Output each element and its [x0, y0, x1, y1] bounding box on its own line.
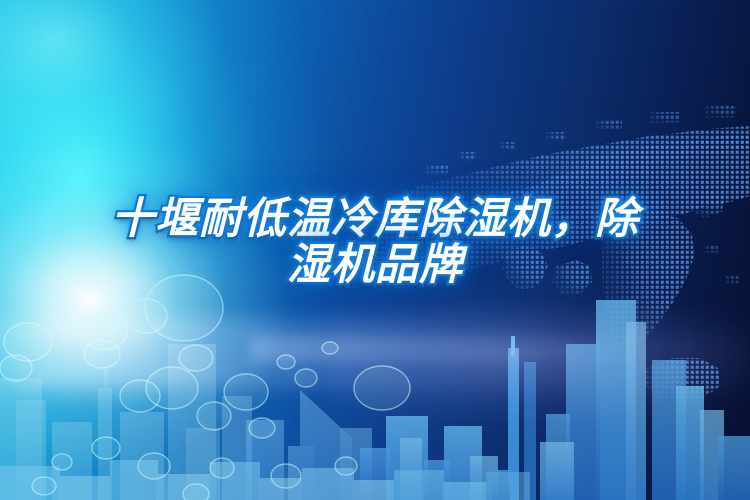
light-streak-thin [250, 336, 750, 362]
banner-image: 十堰耐低温冷库除湿机，除 湿机品牌 [0, 0, 750, 500]
